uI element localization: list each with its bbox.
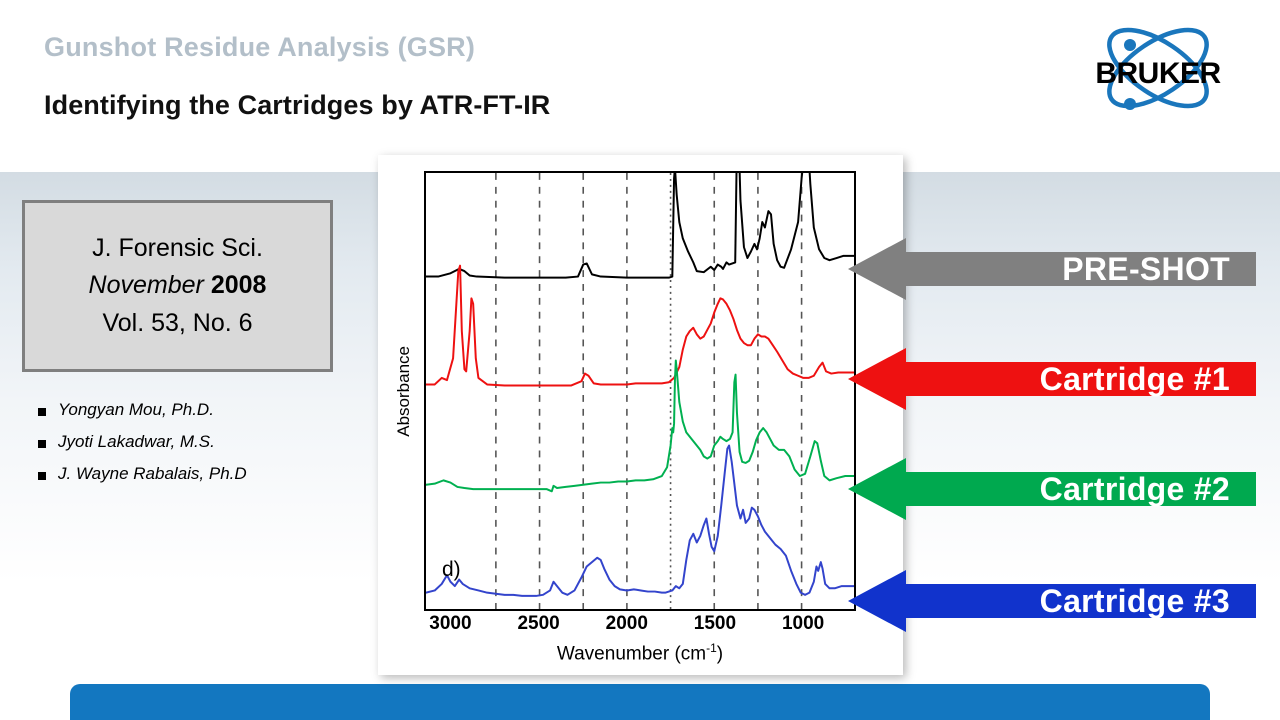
journal-month: November [89, 271, 204, 299]
logo-dot-bottom [1124, 98, 1136, 110]
square-bullet-icon [38, 472, 46, 480]
spectra-figure-card: Absorbance d) 30002500200015001000 Waven… [378, 155, 903, 675]
list-item: J. Wayne Rabalais, Ph.D [38, 464, 358, 484]
x-tick-label: 2000 [606, 613, 648, 635]
callout-cartridge-2[interactable]: Cartridge #2 [848, 458, 1256, 520]
callout-label: Cartridge #1 [1040, 348, 1230, 410]
author-name: J. Wayne Rabalais, Ph.D [58, 464, 247, 484]
journal-volume: Vol. 53, No. 6 [102, 308, 252, 339]
x-axis-label-main: Wavenumber (cm [557, 643, 706, 664]
journal-year: 2008 [211, 271, 267, 299]
y-axis-label: Absorbance [389, 171, 419, 611]
callout-cartridge-1[interactable]: Cartridge #1 [848, 348, 1256, 410]
x-tick-label: 1000 [782, 613, 824, 635]
panel-label: d) [442, 558, 461, 582]
spectra-svg [426, 173, 854, 609]
x-axis-label-tail: ) [717, 643, 723, 664]
slide-title: Identifying the Cartridges by ATR-FT-IR [44, 90, 550, 121]
plot-wrapper: Absorbance d) [424, 171, 856, 611]
x-axis-label: Wavenumber (cm-1) [424, 641, 856, 665]
callout-cartridge-3[interactable]: Cartridge #3 [848, 570, 1256, 632]
bottom-accent-bar [70, 684, 1210, 720]
bruker-wordmark: BRUKER [1095, 57, 1221, 90]
author-list: Yongyan Mou, Ph.D. Jyoti Lakadwar, M.S. … [38, 400, 358, 496]
callout-pre-shot[interactable]: PRE-SHOT [848, 238, 1256, 300]
bruker-logo: BRUKER [1072, 24, 1244, 120]
logo-dot-top [1124, 39, 1136, 51]
journal-date: November 2008 [89, 270, 267, 301]
x-axis-label-sup: -1 [706, 641, 717, 655]
square-bullet-icon [38, 408, 46, 416]
x-axis-ticks: 30002500200015001000 [424, 613, 856, 639]
callout-label: PRE-SHOT [1062, 238, 1230, 300]
journal-reference-box: J. Forensic Sci. November 2008 Vol. 53, … [22, 200, 333, 372]
author-name: Yongyan Mou, Ph.D. [58, 400, 214, 420]
x-tick-label: 3000 [429, 613, 471, 635]
author-name: Jyoti Lakadwar, M.S. [58, 432, 215, 452]
plot-area: d) [424, 171, 856, 611]
callout-label: Cartridge #3 [1040, 570, 1230, 632]
x-tick-label: 1500 [694, 613, 736, 635]
slide-canvas: Gunshot Residue Analysis (GSR) Identifyi… [0, 0, 1280, 720]
x-tick-label: 2500 [517, 613, 559, 635]
slide-kicker: Gunshot Residue Analysis (GSR) [44, 32, 475, 63]
journal-name: J. Forensic Sci. [92, 233, 263, 264]
callout-label: Cartridge #2 [1040, 458, 1230, 520]
list-item: Jyoti Lakadwar, M.S. [38, 432, 358, 452]
list-item: Yongyan Mou, Ph.D. [38, 400, 358, 420]
square-bullet-icon [38, 440, 46, 448]
